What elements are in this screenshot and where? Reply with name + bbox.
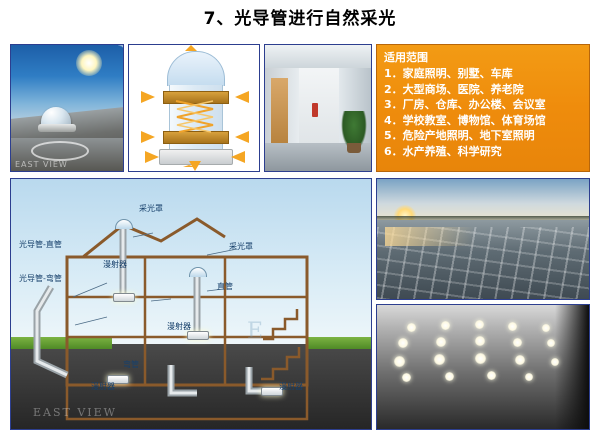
- label-diffuser-mid: 漫射器: [167, 321, 191, 332]
- building-outline: [11, 179, 371, 429]
- fire-extinguisher: [312, 103, 318, 117]
- sun-glint: [385, 227, 474, 246]
- ceiling-lamp: [407, 323, 416, 332]
- label-diffuser-upper: 漫射器: [103, 259, 127, 270]
- building-section-diagram: 采光罩 采光罩 光导管-直管 光导管-弯管 漫射器 直管 漫射器 弯管 漫射器 …: [10, 178, 372, 430]
- label-diffuser-lower-left: 漫射器: [91, 381, 115, 392]
- ceiling: [265, 45, 371, 68]
- roof-skylight-dome-photo: EAST VIEW: [10, 44, 124, 172]
- ceiling-lamp: [475, 353, 486, 364]
- diagram-watermark-center: E: [247, 319, 263, 344]
- diffuser-upper: [113, 293, 135, 302]
- slide-canvas: 7、光导管进行自然采光 EAST VIEW: [0, 0, 600, 441]
- application-scope-panel: 适用范围 1．家庭照明、别墅、车库 2．大型商场、医院、养老院 3．厂房、仓库、…: [376, 44, 590, 172]
- ceiling-lamp: [441, 321, 450, 330]
- light-ring: [31, 141, 89, 161]
- panel-heading: 适用范围: [384, 49, 584, 65]
- label-pipe-straight-left: 光导管-直管: [19, 239, 62, 250]
- ceiling-lamp: [398, 338, 408, 348]
- ceiling-lamp: [508, 322, 517, 331]
- list-item: 6．水产养殖、科学研究: [384, 144, 584, 160]
- ceiling-lamp: [513, 338, 522, 347]
- lamp-grid: [377, 312, 589, 399]
- skylight-base: [38, 124, 76, 132]
- ceiling-lamp: [402, 373, 411, 382]
- ceiling-lamp: [547, 339, 555, 347]
- ceiling-lamp: [475, 336, 485, 346]
- list-item: 1．家庭照明、别墅、车库: [384, 66, 584, 82]
- ceiling-lamp: [434, 354, 445, 365]
- list-item: 3．厂房、仓库、办公楼、会议室: [384, 97, 584, 113]
- panel-list: 1．家庭照明、别墅、车库 2．大型商场、医院、养老院 3．厂房、仓库、办公楼、会…: [384, 66, 584, 159]
- ceiling-lamp: [394, 356, 405, 367]
- corridor-end: [299, 58, 339, 149]
- ceiling-lamp: [487, 371, 496, 380]
- ceiling-lamp: [445, 372, 454, 381]
- ceiling-lamp: [475, 320, 484, 329]
- light-output-arrows: [129, 45, 260, 172]
- diagram-watermark: EAST VIEW: [33, 406, 117, 419]
- page-title: 7、光导管进行自然采光: [0, 4, 600, 29]
- list-item: 4．学校教室、博物馆、体育场馆: [384, 113, 584, 129]
- ceiling-lamp: [436, 337, 446, 347]
- light-pipe-cutaway-illustration: [128, 44, 260, 172]
- interior-corridor-photo: [264, 44, 372, 172]
- list-item: 5．危险产地照明、地下室照明: [384, 128, 584, 144]
- ceiling-lamp: [542, 324, 550, 332]
- list-item: 2．大型商场、医院、养老院: [384, 82, 584, 98]
- label-collector-top: 采光罩: [139, 203, 163, 214]
- label-diffuser-lower-right: 漫射器: [279, 381, 303, 392]
- door: [271, 78, 288, 144]
- ceiling-light-panels-photo: [376, 304, 590, 430]
- label-pipe-bend-left: 光导管-弯管: [19, 273, 62, 284]
- plant-pot: [347, 143, 361, 153]
- ceiling-lamp: [515, 355, 525, 365]
- label-collector-mid: 采光罩: [229, 241, 253, 252]
- label-bend-pipe: 弯管: [123, 359, 139, 370]
- sun-icon: [76, 50, 102, 76]
- ceiling-lamp: [551, 358, 559, 366]
- ceiling-lamp: [525, 373, 533, 381]
- label-straight-pipe: 直管: [217, 281, 233, 292]
- diffuser-mid: [187, 331, 209, 340]
- photo-watermark: EAST VIEW: [15, 160, 68, 169]
- aquaculture-ponds-aerial-photo: [376, 178, 590, 300]
